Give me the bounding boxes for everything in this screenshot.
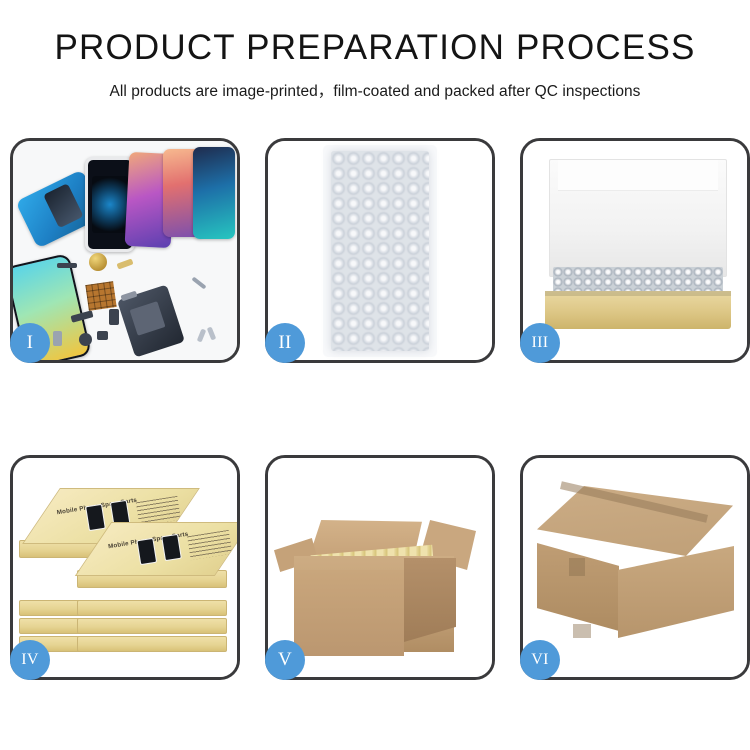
retail-box-icon — [77, 618, 227, 634]
kraft-box-tray-icon — [545, 291, 731, 329]
spare-part-icon — [79, 333, 92, 346]
spare-part-icon — [109, 309, 119, 325]
step-badge-5: V — [265, 640, 305, 680]
bubble-wrapped-items-icon — [553, 267, 723, 293]
process-step-panel-3: III — [520, 138, 750, 363]
header: PRODUCT PREPARATION PROCESS All products… — [0, 0, 750, 101]
printed-spec-lines-icon — [187, 530, 232, 560]
step-badge-5-label: V — [278, 649, 292, 671]
step-badge-4-label: IV — [21, 651, 38, 669]
page-subtitle: All products are image-printed，film-coat… — [0, 79, 750, 101]
spare-part-icon — [97, 331, 108, 340]
process-step-panel-4: Mobile Phone Spare Parts Mobile Phone Sp… — [10, 455, 240, 680]
step-badge-2-label: II — [278, 332, 291, 354]
step-badge-2: II — [265, 323, 305, 363]
step-1-image — [13, 141, 237, 360]
step-badge-4: IV — [10, 640, 50, 680]
process-step-panel-6: VI — [520, 455, 750, 680]
process-step-panel-2: II — [265, 138, 495, 363]
step-badge-3: III — [520, 323, 560, 363]
step-6-image — [523, 458, 747, 677]
phone-screen-teal-icon — [193, 147, 235, 239]
step-5-image — [268, 458, 492, 677]
spare-part-icon — [53, 331, 62, 346]
printed-phone-image-icon — [161, 534, 182, 561]
inner-box-lid-icon — [549, 159, 727, 277]
spare-part-icon — [57, 263, 77, 268]
sealed-carton-right-icon — [618, 546, 734, 638]
copper-coil-part-icon — [89, 253, 107, 271]
screw-part-icon — [197, 329, 207, 343]
chip-grid-part-icon — [85, 281, 116, 311]
retail-box-icon — [77, 636, 227, 652]
sealed-carton-left-icon — [537, 543, 619, 631]
process-step-panel-1: I — [10, 138, 240, 363]
carton-front-panel-icon — [294, 570, 404, 656]
carton-flap-tab-icon — [569, 558, 585, 576]
screw-part-icon — [207, 327, 217, 341]
step-badge-6-label: VI — [531, 651, 548, 669]
step-3-image — [523, 141, 747, 360]
step-badge-1-label: I — [27, 332, 34, 354]
printed-phone-image-icon — [136, 538, 157, 565]
printed-phone-image-icon — [85, 504, 106, 531]
bubble-wrap-icon — [331, 151, 429, 351]
spare-part-icon — [116, 258, 133, 269]
process-step-panel-5: V — [265, 455, 495, 680]
retail-box-stack-icon: Mobile Phone Spare Parts Mobile Phone Sp… — [19, 482, 233, 672]
step-4-image: Mobile Phone Spare Parts Mobile Phone Sp… — [13, 458, 237, 677]
carton-flap-tab-icon — [573, 624, 591, 638]
step-badge-3-label: III — [532, 334, 549, 352]
process-step-grid: I II III — [10, 138, 740, 680]
product-preparation-infographic: PRODUCT PREPARATION PROCESS All products… — [0, 0, 750, 750]
spare-part-icon — [191, 276, 206, 289]
step-2-image — [268, 141, 492, 360]
page-title: PRODUCT PREPARATION PROCESS — [0, 30, 750, 67]
step-badge-1: I — [10, 323, 50, 363]
step-badge-6: VI — [520, 640, 560, 680]
retail-box-icon — [77, 600, 227, 616]
